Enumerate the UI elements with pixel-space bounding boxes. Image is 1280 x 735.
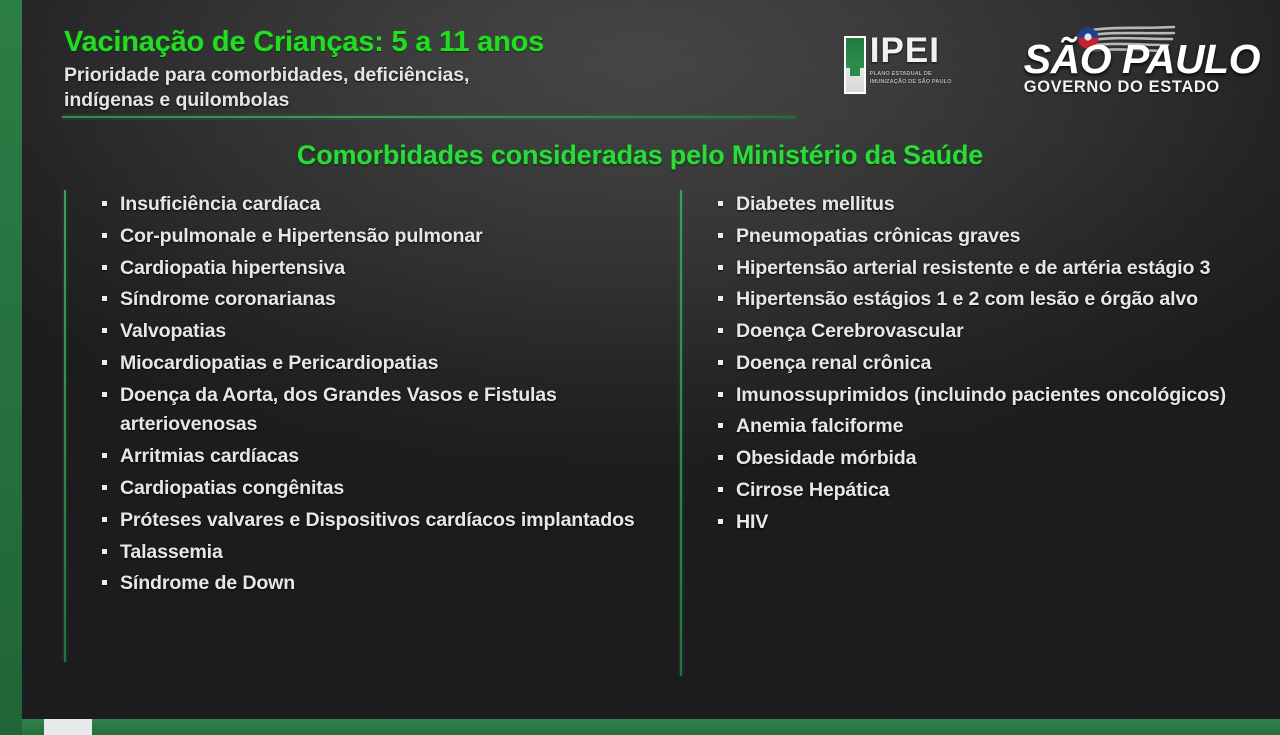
section-heading: Comorbidades consideradas pelo Ministéri… — [0, 140, 1280, 171]
ipei-wordmark: IPEI — [870, 36, 966, 67]
list-item: Insuficiência cardíaca — [90, 190, 680, 220]
list-item: Diabetes mellitus — [706, 190, 1264, 220]
left-column-divider — [64, 190, 66, 662]
bottom-accent-bar — [22, 719, 1280, 735]
right-column-divider — [680, 190, 682, 676]
slide-header: Vacinação de Crianças: 5 a 11 anos Prior… — [0, 0, 1280, 132]
ipei-subtext: PLANO ESTADUAL DE IMUNIZAÇÃO DE SÃO PAUL… — [870, 70, 966, 86]
list-item: Próteses valvares e Dispositivos cardíac… — [90, 506, 680, 536]
page-subtitle-line-2: indígenas e quilombolas — [64, 88, 824, 112]
comorbidities-right-list: Diabetes mellitus Pneumopatias crônicas … — [706, 190, 1264, 538]
sao-paulo-logo: SÃO PAULO GOVERNO DO ESTADO — [1024, 36, 1260, 97]
header-divider — [62, 116, 796, 118]
list-item: Doença Cerebrovascular — [706, 317, 1264, 347]
list-item: Pneumopatias crônicas graves — [706, 222, 1264, 252]
presentation-slide: Vacinação de Crianças: 5 a 11 anos Prior… — [0, 0, 1280, 735]
logo-group: IPEI PLANO ESTADUAL DE IMUNIZAÇÃO DE SÃO… — [844, 36, 1260, 98]
sao-paulo-wordmark: SÃO PAULO — [1024, 42, 1260, 77]
comorbidities-left-list: Insuficiência cardíaca Cor-pulmonale e H… — [90, 190, 680, 599]
list-item: Síndrome de Down — [90, 569, 680, 599]
comorbidities-left-column: Insuficiência cardíaca Cor-pulmonale e H… — [64, 190, 680, 680]
list-item: Doença da Aorta, dos Grandes Vasos e Fis… — [90, 381, 680, 441]
list-item: Anemia falciforme — [706, 412, 1264, 442]
list-item: Obesidade mórbida — [706, 444, 1264, 474]
list-item: Cirrose Hepática — [706, 476, 1264, 506]
comorbidities-columns: Insuficiência cardíaca Cor-pulmonale e H… — [64, 190, 1264, 680]
list-item: Hipertensão estágios 1 e 2 com lesão e ó… — [706, 285, 1264, 315]
list-item: Talassemia — [90, 538, 680, 568]
list-item: Cardiopatias congênitas — [90, 474, 680, 504]
list-item: Cor-pulmonale e Hipertensão pulmonar — [90, 222, 680, 252]
list-item: Arritmias cardíacas — [90, 442, 680, 472]
list-item: HIV — [706, 508, 1264, 538]
list-item: Doença renal crônica — [706, 349, 1264, 379]
bottom-accent-notch — [44, 719, 92, 735]
list-item: Hipertensão arterial resistente e de art… — [706, 254, 1264, 284]
comorbidities-right-column: Diabetes mellitus Pneumopatias crônicas … — [680, 190, 1264, 680]
list-item: Cardiopatia hipertensiva — [90, 254, 680, 284]
list-item: Miocardiopatias e Pericardiopatias — [90, 349, 680, 379]
ipei-text-block: IPEI PLANO ESTADUAL DE IMUNIZAÇÃO DE SÃO… — [870, 36, 966, 98]
page-subtitle: Prioridade para comorbidades, deficiênci… — [64, 63, 824, 111]
list-item: Imunossuprimidos (incluindo pacientes on… — [706, 381, 1264, 411]
list-item: Valvopatias — [90, 317, 680, 347]
ipei-logo: IPEI PLANO ESTADUAL DE IMUNIZAÇÃO DE SÃO… — [844, 36, 966, 98]
list-item: Síndrome coronarianas — [90, 285, 680, 315]
title-block: Vacinação de Crianças: 5 a 11 anos Prior… — [64, 26, 824, 112]
page-subtitle-line-1: Prioridade para comorbidades, deficiênci… — [64, 63, 824, 87]
page-title: Vacinação de Crianças: 5 a 11 anos — [64, 26, 824, 58]
ipei-mark-icon — [844, 36, 866, 94]
